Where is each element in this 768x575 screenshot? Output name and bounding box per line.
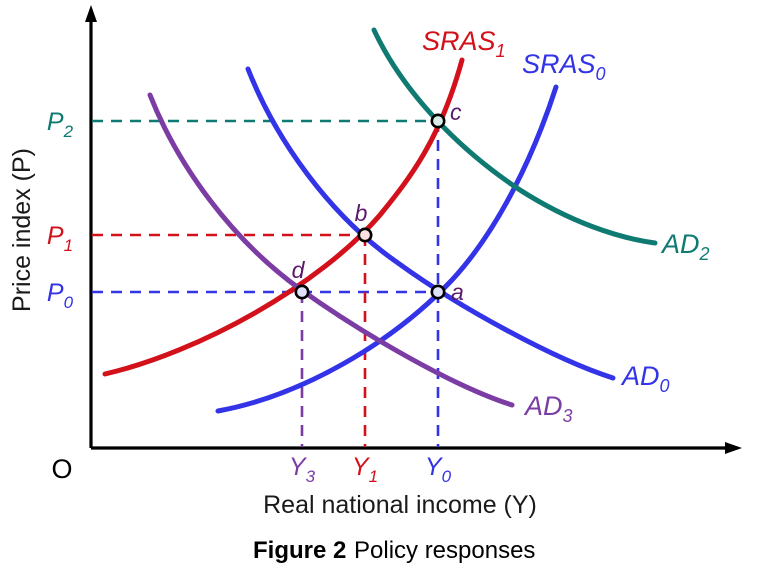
curve-label-sras1: SRAS1 xyxy=(422,26,506,61)
caption-figure-title: Policy responses xyxy=(354,537,535,564)
x-tick-label-y3: Y3 xyxy=(289,453,316,486)
y-tick-label-p0: P0 xyxy=(47,279,74,312)
point-label-a: a xyxy=(451,279,464,305)
curve-sras1 xyxy=(105,60,462,374)
equilibrium-point-c xyxy=(432,115,444,127)
x-axis-title: Real national income (Y) xyxy=(263,491,537,519)
point-label-b: b xyxy=(355,200,368,226)
equilibrium-point-b xyxy=(359,229,371,241)
curve-label-ad0: AD0 xyxy=(620,361,670,396)
curve-ad2 xyxy=(374,30,655,243)
equilibrium-point-a xyxy=(432,286,444,298)
origin-label: O xyxy=(51,454,72,484)
caption-figure-number: Figure 2 xyxy=(253,537,346,564)
point-label-c: c xyxy=(450,99,462,125)
equilibrium-point-d xyxy=(296,286,308,298)
curve-labels-group: SRAS1SRAS0AD2AD0AD3 xyxy=(422,26,710,426)
curve-label-ad3: AD3 xyxy=(523,391,573,426)
x-tick-label-y0: Y0 xyxy=(425,453,452,486)
figure-caption: Figure 2 Policy responses xyxy=(253,537,535,564)
curves-group xyxy=(105,30,655,411)
y-axis-arrowhead xyxy=(85,5,97,22)
point-label-d: d xyxy=(292,257,306,283)
y-axis-title: Price index (P) xyxy=(8,148,36,312)
curve-label-sras0: SRAS0 xyxy=(522,49,606,84)
x-tick-label-y1: Y1 xyxy=(352,453,378,486)
figure-container: abcd SRAS1SRAS0AD2AD0AD3 P2P1P0 Y3Y1Y0 O… xyxy=(0,0,768,575)
curve-sras0 xyxy=(218,87,556,411)
x-axis-arrowhead xyxy=(725,442,742,454)
y-axis-tick-labels: P2P1P0 xyxy=(47,108,74,312)
y-tick-label-p1: P1 xyxy=(47,222,73,255)
y-tick-label-p2: P2 xyxy=(47,108,74,141)
curve-label-ad2: AD2 xyxy=(660,229,710,264)
economics-ad-as-diagram: abcd SRAS1SRAS0AD2AD0AD3 P2P1P0 Y3Y1Y0 O… xyxy=(0,0,768,575)
x-axis-tick-labels: Y3Y1Y0 xyxy=(289,453,452,486)
